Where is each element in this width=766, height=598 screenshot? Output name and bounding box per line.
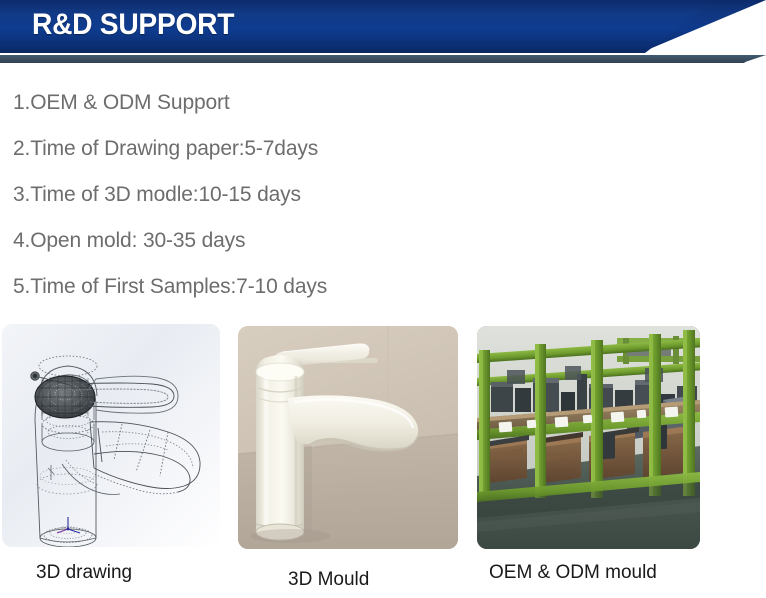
image-panel-3d-mould [238, 326, 458, 549]
list-item: 1.OEM & ODM Support [0, 80, 766, 126]
list-item: 3.Time of 3D modle:10-15 days [0, 172, 766, 218]
banner-divider-line [0, 53, 766, 55]
banner-slate-fill [0, 55, 766, 63]
image-panel-3d-drawing [2, 324, 220, 547]
caption-3d-mould: 3D Mould [288, 569, 369, 591]
caption-oem-odm-mould: OEM & ODM mould [489, 562, 657, 584]
page-title: R&D SUPPORT [32, 8, 234, 42]
image-panel-oem-odm-mould [477, 326, 700, 549]
list-item: 5.Time of First Samples:7-10 days [0, 264, 766, 310]
cad-wireframe-faucet-illustration [2, 324, 220, 547]
header-banner: R&D SUPPORT [0, 0, 766, 63]
green-rack-metal-moulds-photo [477, 326, 700, 549]
caption-3d-drawing: 3D drawing [36, 562, 132, 584]
list-item: 4.Open mold: 30-35 days [0, 218, 766, 264]
rd-support-list: 1.OEM & ODM Support 2.Time of Drawing pa… [0, 80, 766, 310]
white-3d-printed-faucet-photo [238, 326, 458, 549]
list-item: 2.Time of Drawing paper:5-7days [0, 126, 766, 172]
